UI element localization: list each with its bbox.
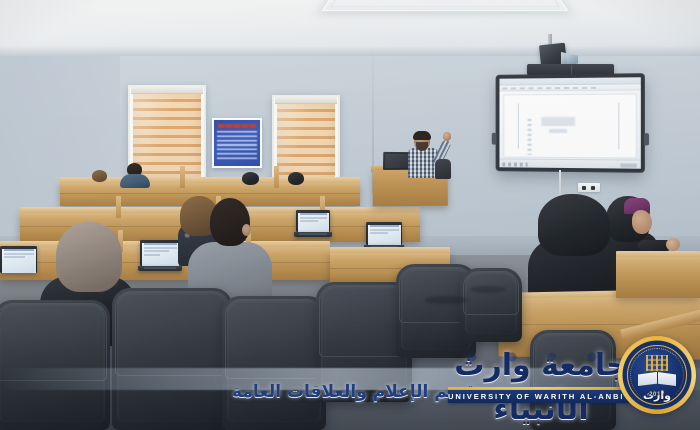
student-back-row-dark — [88, 170, 112, 186]
socket-hole-left — [582, 186, 586, 190]
emblem-geometric-motif-icon — [646, 355, 668, 371]
screen-row — [144, 250, 170, 252]
office-chair[interactable] — [460, 268, 522, 342]
instructor-hair — [413, 131, 431, 140]
instructor-hand — [443, 132, 451, 141]
instructor — [405, 132, 459, 178]
wall-power-socket — [578, 183, 600, 192]
screen-row — [300, 220, 319, 222]
department-name-arabic: قسم الإعلام والعلاقات العامة — [0, 382, 476, 402]
poster-heading — [218, 124, 256, 128]
desk-divider — [180, 166, 185, 188]
screen-row — [370, 232, 388, 234]
app-column-guide-right — [618, 103, 619, 150]
interactive-whiteboard[interactable] — [497, 74, 644, 172]
blind-sheen-right — [277, 100, 335, 181]
screen-row — [4, 249, 34, 251]
university-emblem: وارث الأنبياء 2017 — [618, 336, 696, 414]
blind-right — [277, 100, 335, 181]
laptop[interactable] — [0, 246, 40, 282]
socket-hole-right — [591, 186, 595, 190]
poster-body-text — [217, 131, 257, 162]
app-status-bar — [499, 158, 640, 168]
student-torso — [120, 174, 150, 188]
window-right — [272, 95, 340, 183]
chair-base — [424, 296, 468, 304]
laptop-lid — [0, 246, 37, 273]
chair-backrest-rim — [0, 303, 107, 381]
university-name-english-bar: UNIVERSITY OF WARITH AL-ANBIYAA — [448, 390, 634, 403]
student-back-row-blue — [118, 163, 152, 187]
office-chair[interactable] — [0, 300, 110, 430]
student-ear — [242, 224, 251, 236]
screen-row — [4, 256, 25, 258]
ceiling-light-panel — [321, 0, 569, 11]
laptop-screen[interactable] — [368, 225, 401, 245]
laptop-base[interactable] — [138, 266, 182, 271]
office-chair[interactable] — [222, 296, 326, 430]
app-content-subblock — [549, 129, 567, 133]
screen-row — [300, 213, 327, 215]
desk-line — [60, 193, 360, 194]
desk-row-right-back — [616, 256, 700, 298]
blind-headrail-right — [275, 96, 337, 104]
desk-top-third-right — [330, 247, 450, 253]
laptop-screen[interactable] — [142, 243, 179, 266]
laptop-screen[interactable] — [298, 213, 329, 232]
desk-divider — [116, 196, 121, 218]
student-back-row-dark-3 — [285, 172, 309, 188]
student-hand — [666, 238, 680, 251]
student-hijab — [538, 194, 610, 256]
screen-row — [144, 254, 161, 256]
student-head — [210, 198, 250, 246]
student-back-row-dark-2 — [238, 172, 264, 188]
student-hijab — [56, 222, 122, 292]
chair-backrest-rim — [463, 271, 519, 315]
instructor-chair — [435, 159, 451, 179]
student-face — [632, 210, 652, 234]
emblem-inner: وارث الأنبياء 2017 — [627, 345, 687, 405]
app-content-block — [541, 117, 575, 126]
desk-divider — [274, 166, 279, 188]
laptop[interactable] — [296, 210, 334, 242]
student-head — [242, 172, 259, 185]
university-logo: جامعة وارث الأنبياء UNIVERSITY OF WARITH… — [448, 338, 700, 420]
screen-row — [300, 217, 327, 219]
app-document-area — [503, 94, 636, 159]
chair-backrest-rim — [225, 299, 323, 379]
blind-headrail-left — [131, 86, 203, 94]
university-name-arabic: جامعة وارث الأنبياء — [448, 344, 634, 388]
photo-scene: قسم الإعلام والعلاقات العامة جامعة وارث … — [0, 0, 700, 430]
laptop-lid — [366, 222, 402, 245]
screen-row — [144, 243, 177, 245]
laptop-lid — [296, 210, 330, 232]
app-column-guide-left — [518, 103, 519, 148]
app-ribbon-toolbar — [499, 84, 640, 91]
display-side-button-left[interactable] — [492, 133, 497, 145]
display-screen[interactable] — [499, 77, 640, 168]
chair-backrest-rim — [115, 291, 229, 376]
app-side-text-block — [528, 119, 532, 155]
university-name-english: UNIVERSITY OF WARITH AL-ANBIYAA — [448, 390, 634, 403]
laptop-screen[interactable] — [2, 249, 36, 273]
chair-base — [470, 286, 506, 293]
display-side-button-right[interactable] — [644, 133, 649, 145]
screen-row — [370, 225, 399, 227]
laptop-base[interactable] — [294, 232, 332, 237]
screen-row — [144, 247, 177, 249]
soundbar — [527, 64, 614, 75]
poster-inner — [214, 120, 260, 166]
screen-row — [4, 253, 34, 255]
student-head — [288, 172, 304, 185]
screen-row — [370, 229, 399, 231]
office-chair[interactable] — [112, 288, 232, 430]
emblem-year: 2017 — [628, 392, 686, 398]
desk-top-right-back — [616, 251, 700, 257]
wall-poster — [212, 118, 262, 168]
student-head — [92, 170, 107, 182]
